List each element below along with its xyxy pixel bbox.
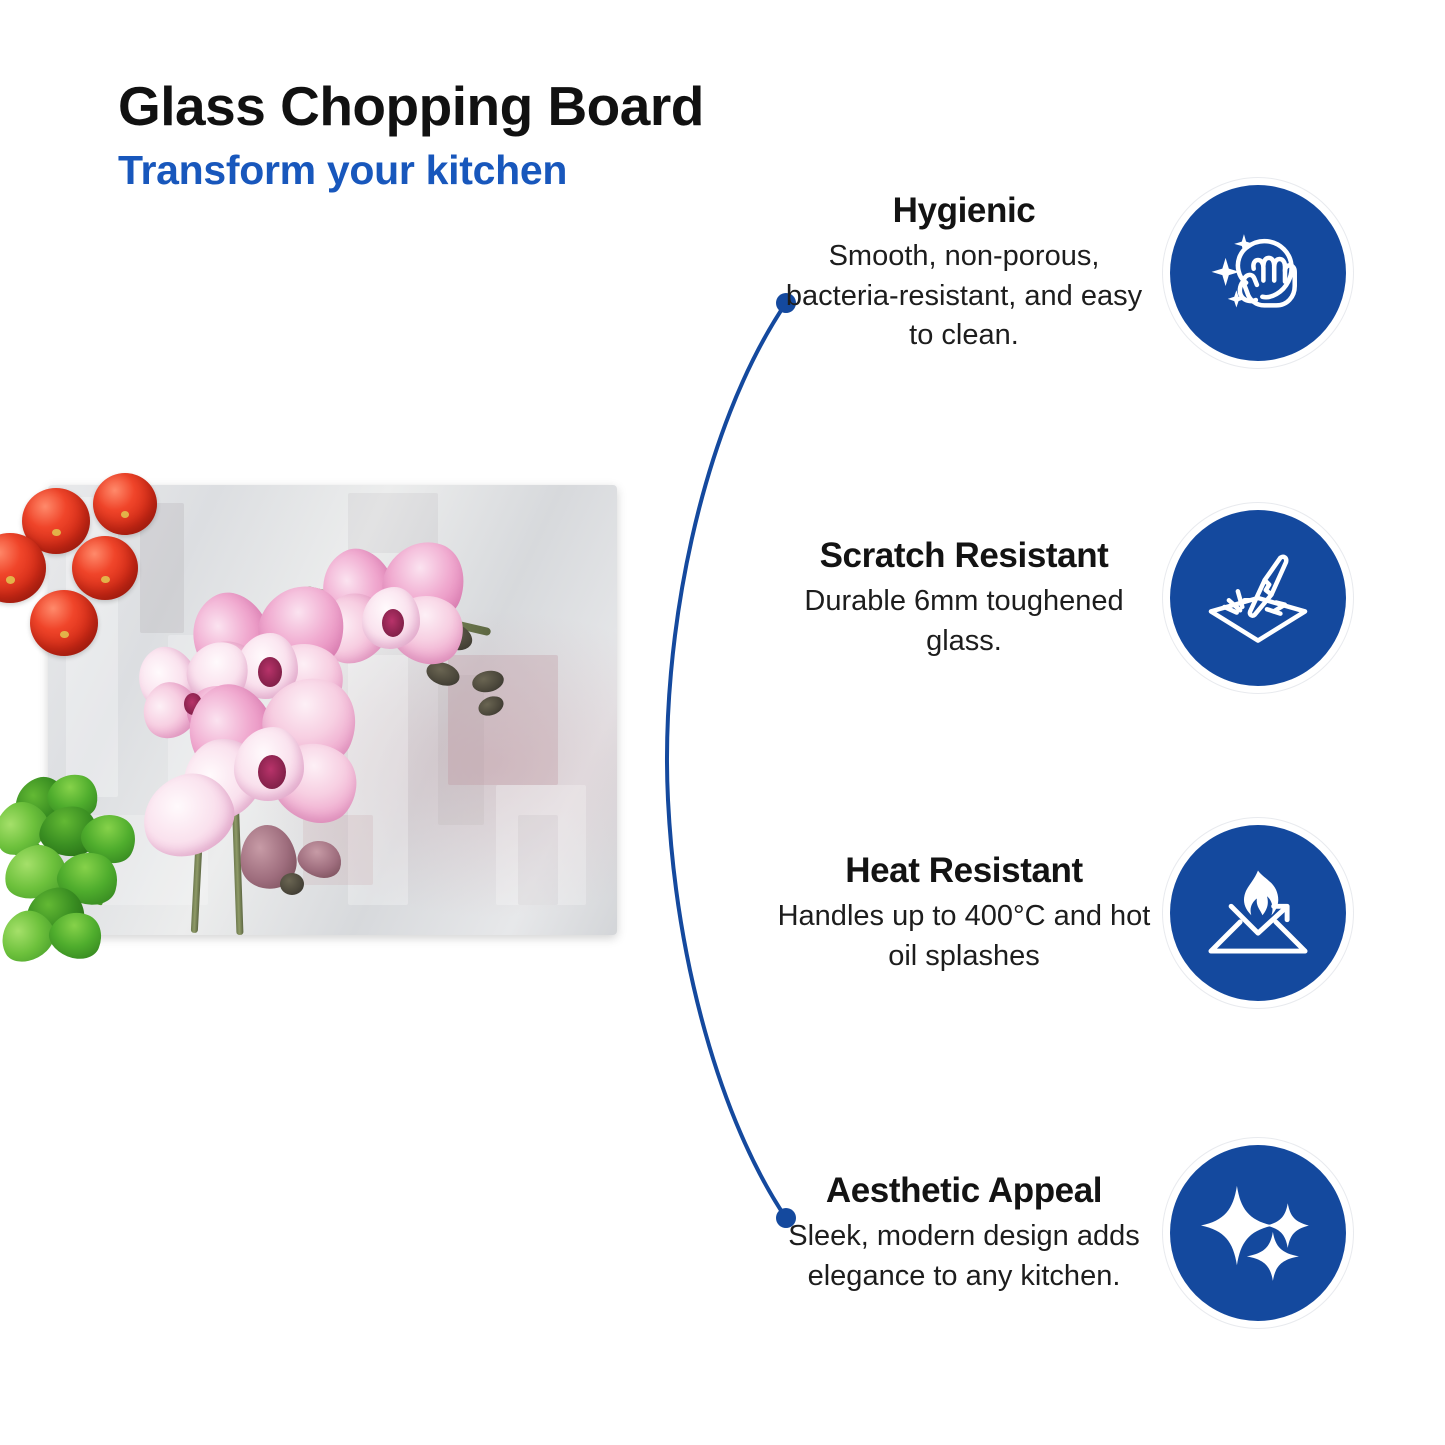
feature-aesthetic-appeal: Aesthetic Appeal Sleek, modern design ad… [770,1145,1380,1321]
feature-text-block: Scratch Resistant Durable 6mm toughened … [770,535,1170,661]
feature-description: Durable 6mm toughened glass. [770,582,1158,661]
sparkles-icon [1170,1145,1346,1321]
feature-text-block: Aesthetic Appeal Sleek, modern design ad… [770,1170,1170,1296]
feature-text-block: Heat Resistant Handles up to 400°C and h… [770,850,1170,976]
orchid-seedpod [280,873,304,895]
cherry-tomato [72,536,138,600]
connector-path [667,303,786,1218]
feature-title: Hygienic [770,190,1158,231]
cherry-tomato [30,590,98,656]
hand-wiping-sparkle-icon [1170,185,1346,361]
feature-text-block: Hygienic Smooth, non-porous, bacteria-re… [770,190,1170,356]
cherry-tomato [93,473,157,535]
feature-title: Scratch Resistant [770,535,1158,576]
board-texture-stroke [518,815,558,905]
board-texture-stroke [448,655,558,785]
feature-scratch-resistant: Scratch Resistant Durable 6mm toughened … [770,510,1380,686]
feature-description: Smooth, non-porous, bacteria-resistant, … [770,237,1158,355]
feature-title: Heat Resistant [770,850,1158,891]
page-subtitle: Transform your kitchen [118,148,878,193]
parsley-garnish [0,772,166,972]
feature-description: Handles up to 400°C and hot oil splashes [770,897,1158,976]
infographic-page: Glass Chopping Board Transform your kitc… [0,0,1445,1445]
feature-heat-resistant: Heat Resistant Handles up to 400°C and h… [770,825,1380,1001]
page-title: Glass Chopping Board [118,78,878,136]
product-photo [0,440,660,1000]
feature-description: Sleek, modern design adds elegance to an… [770,1217,1158,1296]
knife-on-surface-icon [1170,510,1346,686]
flame-deflect-icon [1170,825,1346,1001]
feature-hygienic: Hygienic Smooth, non-porous, bacteria-re… [770,185,1380,361]
feature-title: Aesthetic Appeal [770,1170,1158,1211]
header: Glass Chopping Board Transform your kitc… [118,78,878,193]
